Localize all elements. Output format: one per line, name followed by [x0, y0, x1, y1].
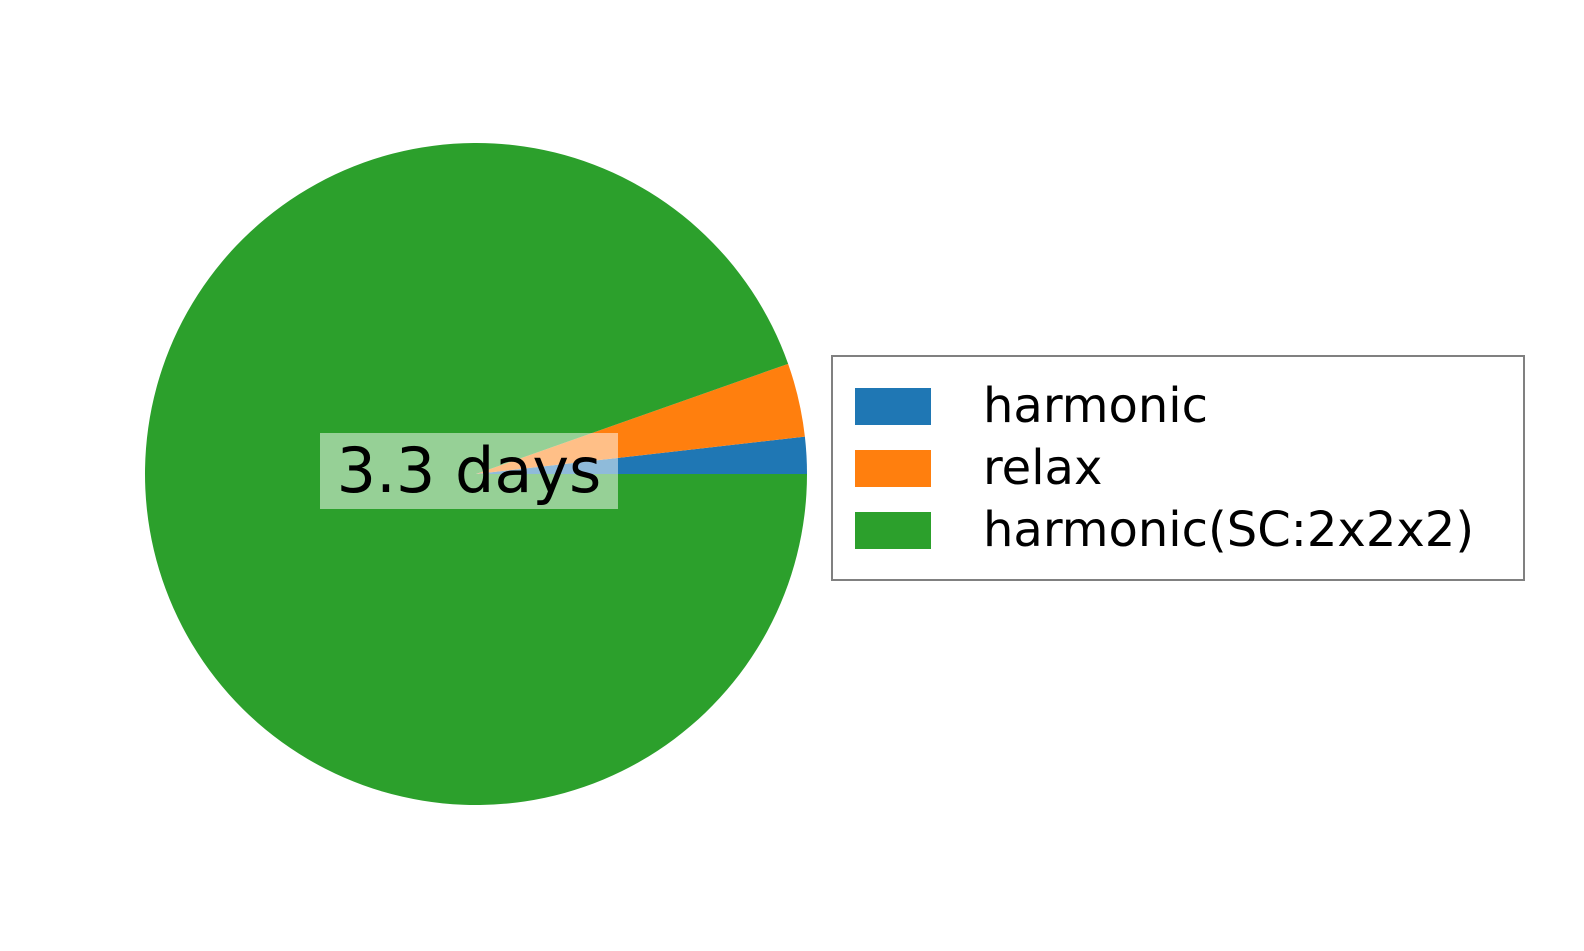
legend-label-harmonic-sc: harmonic(SC:2x2x2) [983, 506, 1474, 554]
legend-swatch-relax [855, 450, 931, 487]
legend-swatch-harmonic [855, 388, 931, 425]
legend-item-relax[interactable]: relax [855, 437, 1501, 499]
pie-chart-figure: 3.3 days harmonic relax harmonic(SC:2x2x… [0, 0, 1584, 951]
legend-item-harmonic-sc[interactable]: harmonic(SC:2x2x2) [855, 499, 1501, 561]
pie-center-total-label: 3.3 days [320, 433, 618, 509]
legend-swatch-harmonic-sc [855, 512, 931, 549]
chart-legend: harmonic relax harmonic(SC:2x2x2) [831, 355, 1525, 581]
legend-label-relax: relax [983, 444, 1102, 492]
legend-item-harmonic[interactable]: harmonic [855, 375, 1501, 437]
legend-label-harmonic: harmonic [983, 382, 1208, 430]
